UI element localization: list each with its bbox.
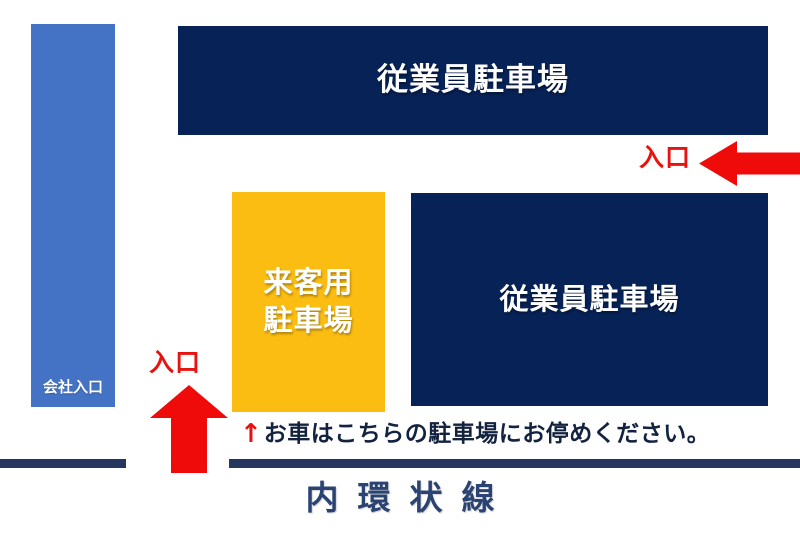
visitor-parking-label-line2: 駐車場 [263, 303, 353, 337]
entrance-left-arrow-icon [699, 141, 800, 186]
entrance-up-arrow-tail [171, 455, 207, 473]
road-line-right [229, 459, 800, 468]
road-line-left [0, 459, 126, 468]
visitor-parking-label: 来客用駐車場 [263, 264, 353, 339]
entrance-up-arrow-icon [150, 385, 228, 460]
visitor-parking-area: 来客用駐車場 [232, 192, 385, 412]
parking-instruction-note: ↑ お車はこちらの駐車場にお停めください。 [240, 417, 770, 451]
employee-parking-right-label: 従業員駐車場 [499, 283, 679, 316]
visitor-parking-label-line1: 来客用 [263, 265, 353, 299]
parking-map-diagram: 会社入口 従業員駐車場 来客用駐車場 従業員駐車場 入口 入口 ↑ お車はこちら… [0, 0, 800, 554]
note-up-arrow-icon: ↑ [240, 421, 262, 447]
road-name-label: 内環状線 [0, 478, 800, 518]
employee-parking-top-label: 従業員駐車場 [377, 63, 569, 99]
note-text: お車はこちらの駐車場にお停めください。 [264, 423, 711, 446]
company-entrance-label: 会社入口 [43, 379, 103, 396]
entrance-right-label: 入口 [639, 145, 691, 170]
employee-parking-area-right: 従業員駐車場 [411, 193, 768, 406]
entrance-bottom-label: 入口 [149, 350, 201, 375]
employee-parking-area-top: 従業員駐車場 [178, 26, 768, 135]
company-entrance-bar: 会社入口 [31, 24, 115, 407]
